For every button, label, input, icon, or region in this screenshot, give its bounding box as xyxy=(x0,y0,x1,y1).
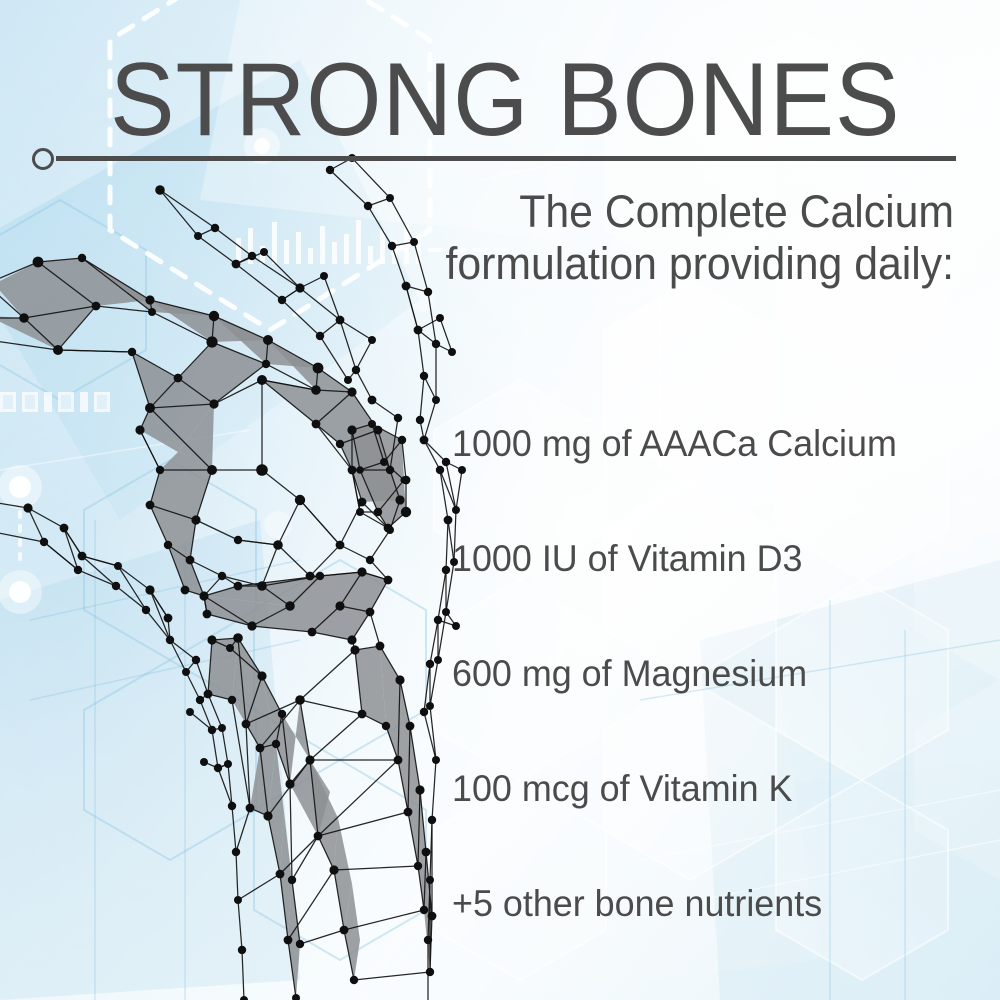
list-item: +5 other bone nutrients xyxy=(452,885,956,1000)
list-item: 1000 IU of Vitamin D3 xyxy=(452,540,956,655)
horizontal-rule xyxy=(56,156,956,161)
circle-terminal-icon xyxy=(32,148,54,170)
list-item: 100 mcg of Vitamin K xyxy=(452,770,956,885)
subtitle-line-1: The Complete Calcium xyxy=(346,186,954,238)
poster-canvas: STRONG BONES The Complete Calcium formul… xyxy=(0,0,1000,1000)
list-item: 600 mg of Magnesium xyxy=(452,655,956,770)
divider-rule xyxy=(32,140,962,176)
list-item: 1000 mg of AAACa Calcium xyxy=(452,425,956,540)
nutrient-list: 1000 mg of AAACa Calcium 1000 IU of Vita… xyxy=(452,425,972,1000)
subtitle-line-2: formulation providing daily: xyxy=(346,238,954,290)
wire-facets xyxy=(0,258,432,998)
subtitle: The Complete Calcium formulation providi… xyxy=(346,186,954,290)
page-title: STRONG BONES xyxy=(110,48,882,152)
